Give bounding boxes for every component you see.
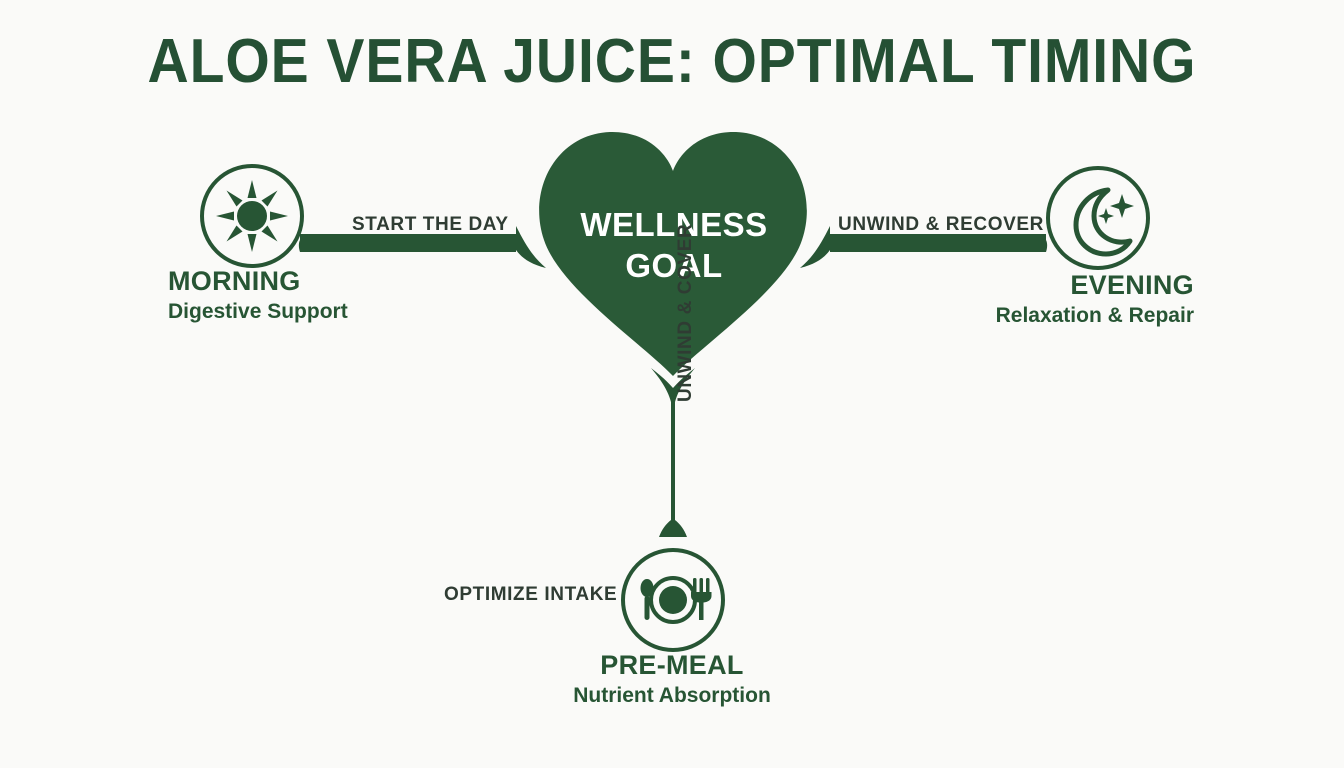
infographic-canvas: ALOE VERA JUICE: OPTIMAL TIMING WELLNESS…: [0, 0, 1344, 768]
connector-label-unwind-cover: UNWIND & COVER: [675, 224, 697, 402]
center-node: WELLNESS GOAL: [528, 126, 820, 376]
page-title: ALOE VERA JUICE: OPTIMAL TIMING: [54, 26, 1290, 97]
moon-stars-icon: [1050, 170, 1146, 266]
connector-label-unwind-recover: UNWIND & RECOVER: [838, 214, 1044, 236]
center-label-line1: WELLNESS: [528, 204, 820, 245]
connector-label-start-the-day: START THE DAY: [352, 214, 509, 236]
node-evening-circle[interactable]: [1046, 166, 1150, 270]
node-premeal-label: PRE-MEAL Nutrient Absorption: [0, 650, 1344, 708]
node-morning-title: MORNING: [168, 266, 348, 296]
node-morning-subtitle: Digestive Support: [168, 300, 348, 324]
node-evening-subtitle: Relaxation & Repair: [996, 304, 1194, 328]
node-evening-title: EVENING: [996, 270, 1194, 300]
center-label-line2: GOAL: [528, 245, 820, 286]
center-label: WELLNESS GOAL: [528, 204, 820, 286]
node-morning-label: MORNING Digestive Support: [168, 266, 348, 324]
sun-icon: [204, 168, 300, 264]
node-premeal-circle[interactable]: [621, 548, 725, 652]
node-premeal-subtitle: Nutrient Absorption: [0, 684, 1344, 708]
node-evening-label: EVENING Relaxation & Repair: [996, 270, 1194, 328]
plate-cutlery-icon: [625, 552, 721, 648]
connector-label-optimize-intake: OPTIMIZE INTAKE: [444, 584, 617, 606]
node-morning-circle[interactable]: [200, 164, 304, 268]
node-premeal-title: PRE-MEAL: [0, 650, 1344, 680]
